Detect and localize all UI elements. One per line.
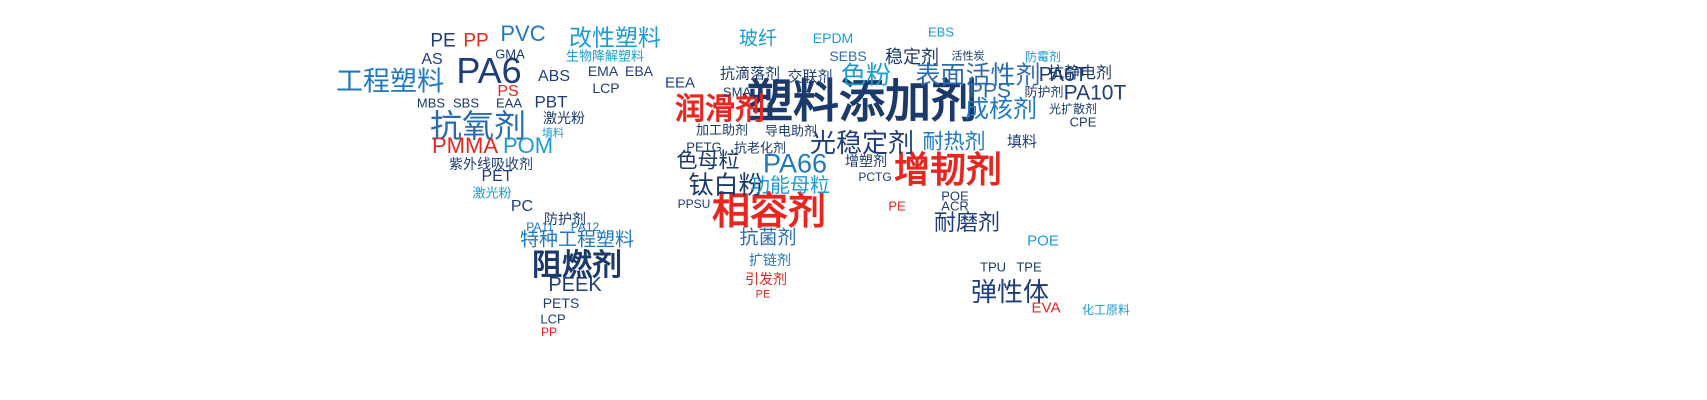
word-cloud-term[interactable]: PEEK — [548, 275, 601, 295]
word-cloud-term[interactable]: PE — [430, 32, 455, 51]
word-cloud-term[interactable]: 激光粉 — [472, 187, 511, 200]
word-cloud-term[interactable]: PBT — [534, 94, 567, 111]
word-cloud-term[interactable]: EVA — [1032, 301, 1061, 316]
word-cloud-term[interactable]: 耐热剂 — [923, 132, 986, 153]
word-cloud-term[interactable]: PA12 — [571, 221, 599, 233]
word-cloud-term[interactable]: 交联剂 — [787, 70, 832, 85]
word-cloud-term[interactable]: PPSU — [678, 198, 711, 210]
word-cloud-term[interactable]: EAA — [496, 97, 522, 110]
word-cloud-term[interactable]: 引发剂 — [745, 272, 787, 286]
word-cloud-term[interactable]: GMA — [495, 48, 525, 61]
word-cloud-term[interactable]: 防霉剂 — [1025, 51, 1061, 63]
word-cloud-term[interactable]: 润滑剂 — [675, 95, 765, 125]
word-cloud-term[interactable]: CPE — [1070, 116, 1097, 129]
word-cloud-term[interactable]: PETG — [686, 141, 721, 154]
word-cloud-term[interactable]: 抗老化剂 — [734, 142, 786, 155]
word-cloud-term[interactable]: LCP — [540, 313, 565, 326]
word-cloud-term[interactable]: PP — [541, 326, 557, 338]
word-cloud-term[interactable]: SBS — [453, 97, 479, 110]
word-cloud-term[interactable]: 填料 — [542, 129, 564, 140]
word-cloud-term[interactable]: PE — [756, 290, 771, 301]
word-cloud-term[interactable]: 填料 — [1007, 135, 1037, 150]
word-cloud-term[interactable]: PCTG — [858, 171, 891, 183]
word-cloud-term[interactable]: 扩链剂 — [749, 253, 791, 267]
word-cloud-term[interactable]: PETS — [543, 296, 580, 310]
word-cloud-term[interactable]: PC — [511, 199, 533, 215]
word-cloud-term[interactable]: EBS — [928, 26, 954, 39]
word-cloud-term[interactable]: POE — [1027, 234, 1059, 249]
word-cloud-term[interactable]: EBA — [625, 64, 653, 78]
word-cloud-term[interactable]: PVC — [500, 23, 545, 45]
word-cloud-term[interactable]: 化工原料 — [1082, 304, 1130, 316]
word-cloud-term[interactable]: PP — [463, 32, 488, 51]
word-cloud-term[interactable]: 色粉 — [841, 64, 891, 89]
word-cloud-term[interactable]: ABS — [538, 69, 570, 85]
word-cloud-term[interactable]: LCP — [592, 81, 619, 95]
word-cloud-term[interactable]: PPS — [969, 81, 1011, 102]
word-cloud-term[interactable]: 增塑剂 — [845, 154, 887, 168]
word-cloud-term[interactable]: PE — [888, 200, 905, 213]
word-cloud-term[interactable]: 防护剂 — [1024, 86, 1063, 99]
word-cloud-term[interactable]: EEA — [665, 76, 695, 91]
word-cloud-term[interactable]: 抗静电剂 — [1048, 66, 1112, 82]
word-cloud-term[interactable]: 稳定剂 — [885, 48, 939, 66]
word-cloud-term[interactable]: ACR — [941, 200, 968, 213]
word-cloud-term[interactable]: 抗菌剂 — [739, 229, 796, 248]
word-cloud-term[interactable]: EPDM — [813, 31, 853, 45]
word-cloud-term[interactable]: MBS — [417, 97, 445, 110]
word-cloud-term[interactable]: 功能母粒 — [750, 176, 830, 196]
word-cloud-term[interactable]: SEBS — [829, 49, 866, 63]
word-cloud-term[interactable]: 导电助剂 — [765, 125, 817, 138]
word-cloud-term[interactable]: 玻纤 — [739, 30, 777, 49]
word-cloud-term[interactable]: TPU — [980, 261, 1006, 274]
word-cloud-term[interactable]: 光扩散剂 — [1049, 103, 1097, 115]
word-cloud-term[interactable]: PET — [481, 169, 512, 185]
word-cloud-term[interactable]: AS — [421, 52, 442, 68]
word-cloud-term[interactable]: SMA — [723, 86, 751, 99]
word-cloud-term[interactable]: TPE — [1016, 261, 1041, 274]
word-cloud-term[interactable]: 生物降解塑料 — [566, 50, 644, 63]
word-cloud-term[interactable]: 活性炭 — [952, 52, 985, 63]
word-cloud-term[interactable]: 加工助剂 — [696, 124, 748, 137]
word-cloud-term[interactable]: 耐磨剂 — [934, 212, 1000, 234]
word-cloud-term[interactable]: 抗滴落剂 — [720, 67, 780, 82]
word-cloud-term[interactable]: PMMA — [432, 135, 498, 157]
word-cloud-term[interactable]: PA11 — [526, 221, 554, 233]
word-cloud-canvas: 塑料添加剂相容剂增韧剂润滑剂阻燃剂PA6抗氧剂工程塑料表面活性剂光稳定剂PA66… — [0, 0, 1707, 400]
word-cloud-term[interactable]: 工程塑料 — [336, 69, 444, 96]
word-cloud-term[interactable]: EMA — [588, 64, 618, 78]
word-cloud-term[interactable]: 激光粉 — [543, 111, 585, 125]
word-cloud-term[interactable]: 改性塑料 — [569, 27, 661, 50]
